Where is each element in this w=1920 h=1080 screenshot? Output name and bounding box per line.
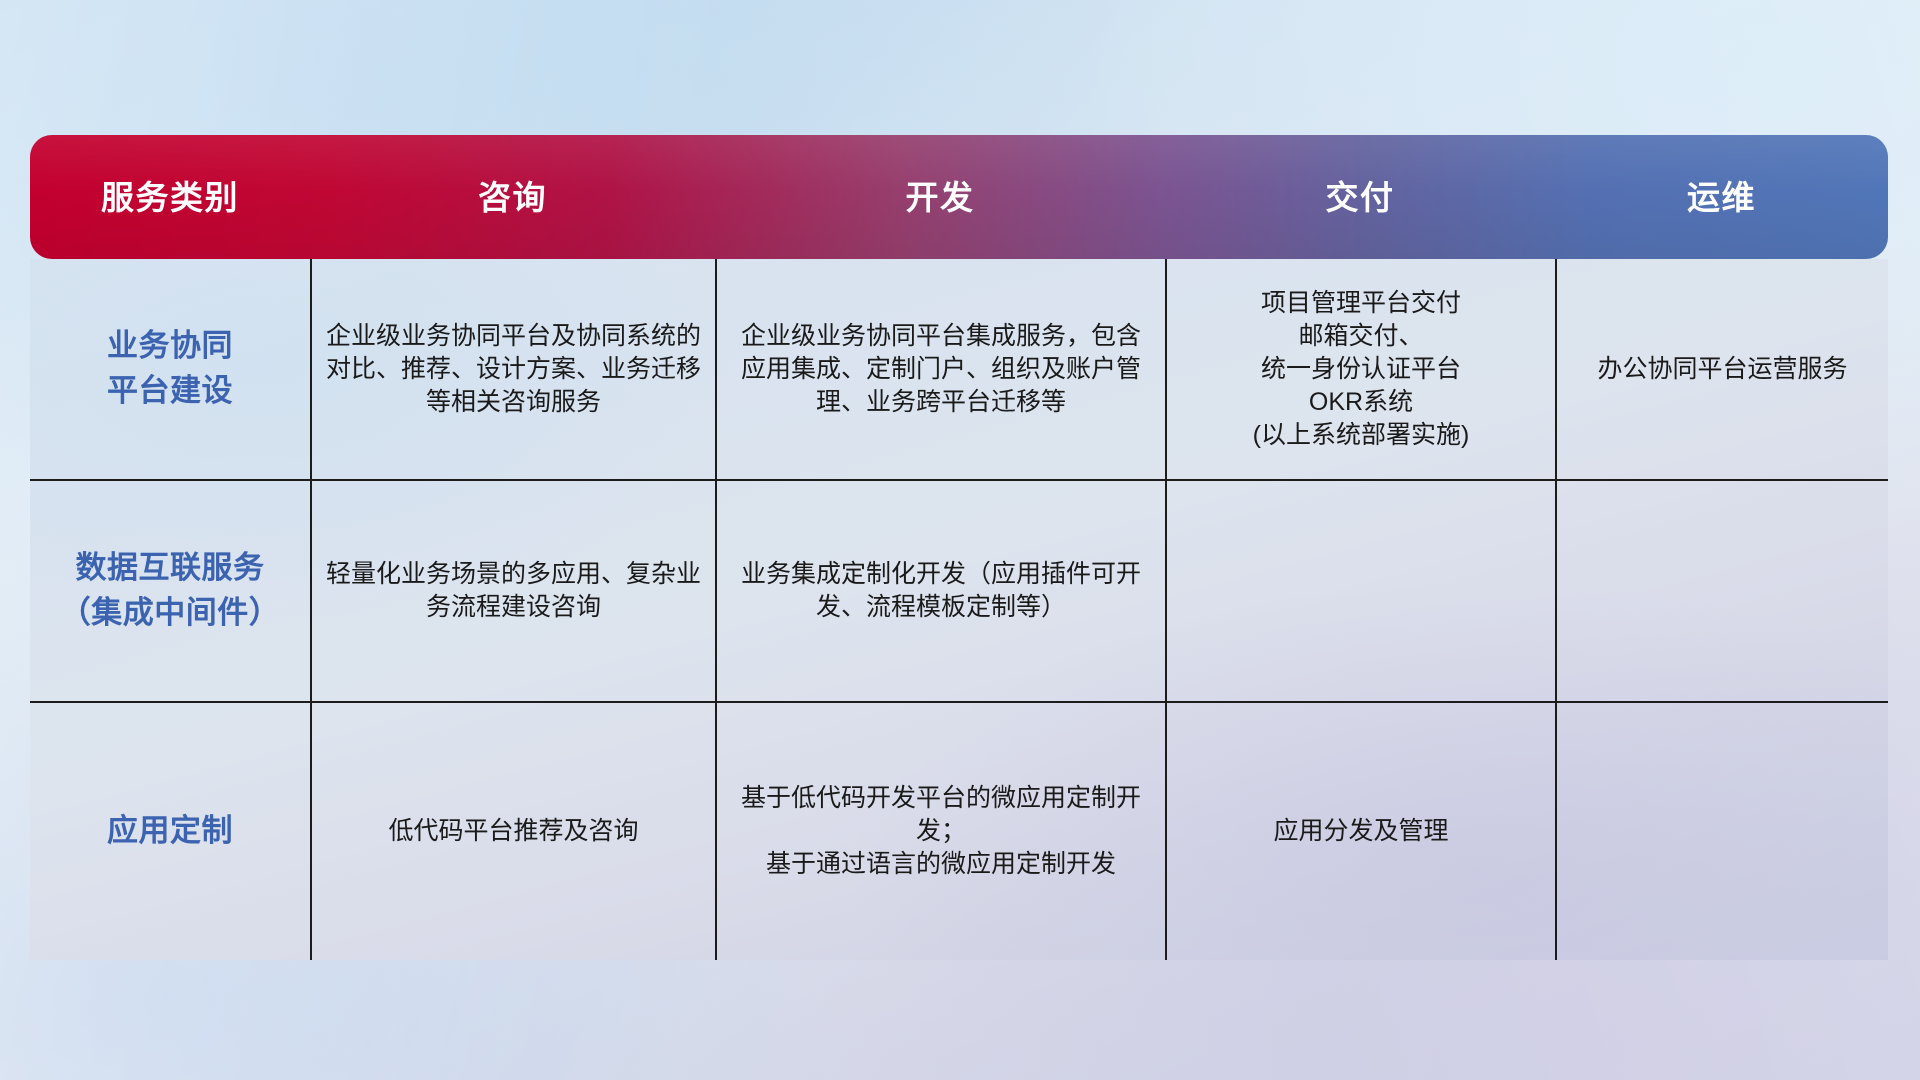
table-cell-development: 企业级业务协同平台集成服务，包含应用集成、定制门户、组织及账户管理、业务跨平台迁… <box>715 259 1165 479</box>
table-row: 应用定制 低代码平台推荐及咨询 基于低代码开发平台的微应用定制开发； 基于通过语… <box>30 703 1888 960</box>
table-cell-delivery: 项目管理平台交付 邮箱交付、 统一身份认证平台 OKR系统 (以上系统部署实施) <box>1165 259 1555 479</box>
table-header-cell-development: 开发 <box>715 181 1165 214</box>
table-cell-development: 基于低代码开发平台的微应用定制开发； 基于通过语言的微应用定制开发 <box>715 703 1165 960</box>
table-cell-operations <box>1555 481 1888 701</box>
table-header-row: 服务类别 咨询 开发 交付 运维 <box>30 135 1888 259</box>
table-body: 业务协同 平台建设 企业级业务协同平台及协同系统的对比、推荐、设计方案、业务迁移… <box>30 259 1888 960</box>
table-cell-delivery <box>1165 481 1555 701</box>
table-header-cell-delivery: 交付 <box>1165 181 1555 214</box>
table-cell-delivery: 应用分发及管理 <box>1165 703 1555 960</box>
table-cell-development: 业务集成定制化开发（应用插件可开发、流程模板定制等） <box>715 481 1165 701</box>
service-matrix-table: 服务类别 咨询 开发 交付 运维 业务协同 平台建设 企业级业务协同平台及协同系… <box>30 135 1888 960</box>
table-cell-operations <box>1555 703 1888 960</box>
table-header-cell-service-category: 服务类别 <box>30 181 310 214</box>
table-header-cell-consulting: 咨询 <box>310 181 715 214</box>
table-cell-consulting: 轻量化业务场景的多应用、复杂业务流程建设咨询 <box>310 481 715 701</box>
table-cell-category: 应用定制 <box>30 703 310 960</box>
table-cell-consulting: 低代码平台推荐及咨询 <box>310 703 715 960</box>
table-cell-operations: 办公协同平台运营服务 <box>1555 259 1888 479</box>
table-row: 数据互联服务 （集成中间件） 轻量化业务场景的多应用、复杂业务流程建设咨询 业务… <box>30 481 1888 703</box>
table-row: 业务协同 平台建设 企业级业务协同平台及协同系统的对比、推荐、设计方案、业务迁移… <box>30 259 1888 481</box>
table-header-cell-operations: 运维 <box>1555 181 1888 214</box>
table-cell-consulting: 企业级业务协同平台及协同系统的对比、推荐、设计方案、业务迁移等相关咨询服务 <box>310 259 715 479</box>
table-cell-category: 业务协同 平台建设 <box>30 259 310 479</box>
table-cell-category: 数据互联服务 （集成中间件） <box>30 481 310 701</box>
